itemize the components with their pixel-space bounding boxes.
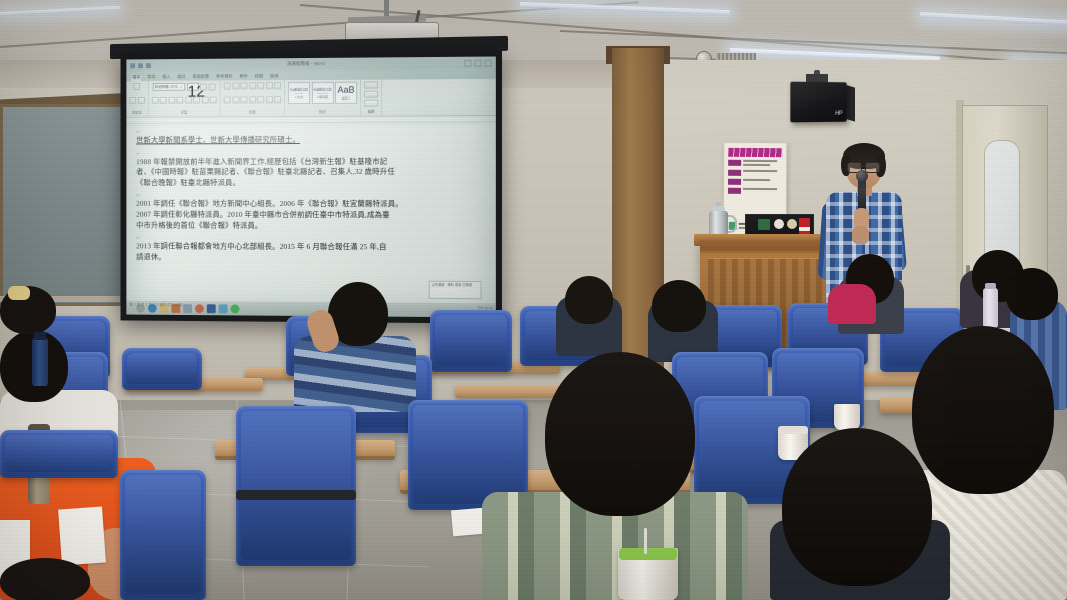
hair-clip — [8, 286, 30, 300]
ribbon-group-paragraph: 段落 — [221, 80, 285, 116]
water-bottle — [32, 338, 48, 386]
water-bottle — [983, 288, 998, 328]
decrease-indent-icon[interactable] — [249, 82, 256, 89]
italic-icon[interactable] — [160, 97, 167, 104]
chrome-browser-icon[interactable] — [195, 304, 204, 313]
document-line: 2007 年調任彰化縣特派員。2010 年臺中縣市合併前調任臺中市特派員,成為臺 — [136, 210, 489, 221]
shading-icon[interactable] — [266, 96, 273, 103]
ribbon-group-editing: 編輯 — [361, 80, 382, 116]
wall-speaker: HP — [790, 82, 846, 123]
drink-cup — [834, 404, 860, 430]
audience-member-head — [545, 352, 695, 516]
drinking-straw — [644, 528, 647, 554]
document-paragraph: 2013 年調任聯合報都會地方中心北部組長。2015 年 6 月聯合報任滿 25… — [136, 242, 489, 265]
volume-tooltip: 正在播放 - 喇叭 音量 已靜音 — [429, 281, 482, 299]
projected-image: 演講稿簡報 - Word 檔案 常用 插入 設計 版面配置 參考資料 郵件 校閱… — [126, 57, 495, 318]
audience-member-torso — [294, 336, 416, 412]
audience-member-head — [565, 276, 613, 324]
audience-member-head — [1006, 268, 1058, 320]
minimize-icon[interactable] — [464, 59, 471, 66]
lecture-hall-photo: HP — [0, 0, 1067, 600]
undo-icon[interactable] — [138, 63, 143, 68]
poster-row — [728, 179, 782, 185]
word-ribbon: 剪貼簿 新細明體 (中文...) 12 — [126, 79, 495, 118]
word-status-bar: 第 1 頁,共 1 頁 171 個字 中文(台灣) — [129, 302, 183, 307]
group-label-paragraph: 段落 — [249, 109, 256, 114]
microphone-head-icon — [856, 170, 868, 182]
group-label-styles: 樣式 — [319, 109, 326, 114]
superscript-icon[interactable] — [193, 97, 200, 104]
poster-row-tag — [728, 179, 741, 185]
paper-handout — [58, 507, 106, 566]
word-document-page[interactable]: ↵ 世新大學新聞系學士、世新大學傳播研究所碩士。 ↵ 1988 年報禁開放前半年… — [126, 125, 495, 303]
font-name-box[interactable]: 新細明體 (中文...) — [153, 83, 185, 91]
presenter-glasses-lens — [865, 162, 880, 173]
laptop-sticker — [787, 219, 797, 229]
document-line: 《聯合晚報》駐臺北縣特派員。 — [136, 178, 489, 189]
word-application-window: 演講稿簡報 - Word 檔案 常用 插入 設計 版面配置 參考資料 郵件 校閱… — [126, 57, 495, 318]
strikethrough-icon[interactable] — [176, 97, 183, 104]
line-spacing-icon[interactable] — [257, 96, 264, 103]
presenter-hand-lower — [852, 226, 869, 244]
subscript-icon[interactable] — [185, 97, 192, 104]
ribbon-group-font: 新細明體 (中文...) 12 — [148, 81, 220, 117]
laptop-sticker — [758, 219, 770, 230]
bottle-cap — [985, 283, 996, 289]
align-right-icon[interactable] — [240, 96, 247, 103]
shrink-font-icon[interactable] — [208, 83, 215, 90]
presenter-glasses-bridge — [860, 165, 865, 167]
document-line: 者、《中國時報》駐苗栗縣記者、《聯合報》駐臺北縣記者、召集人,32 歲時升任 — [136, 167, 489, 178]
seat[interactable] — [120, 470, 206, 600]
align-center-icon[interactable] — [232, 96, 239, 103]
poster-row — [728, 170, 782, 176]
ribbon-group-clipboard: 剪貼簿 — [126, 81, 148, 117]
underline-icon[interactable] — [168, 97, 175, 104]
multilevel-list-icon[interactable] — [240, 82, 247, 89]
style-no-spacing[interactable]: AaBbCcD ↵無間距 — [311, 82, 333, 104]
document-paragraph: 1988 年報禁開放前半年進入新聞界工作,經歷包括《台灣新生報》駐基隆市記 者、… — [136, 156, 489, 188]
seat[interactable] — [236, 406, 356, 566]
document-line: 2013 年調任聯合報都會地方中心北部組長。2015 年 6 月聯合報任滿 25… — [136, 242, 489, 254]
font-color-icon[interactable] — [210, 97, 217, 104]
sort-icon[interactable] — [266, 82, 273, 89]
font-size-box[interactable]: 12 — [187, 83, 199, 91]
bottle-cap — [34, 332, 46, 340]
align-left-icon[interactable] — [224, 96, 231, 103]
audience-member-head — [652, 280, 706, 332]
borders-icon[interactable] — [274, 96, 281, 103]
snipping-tool-icon[interactable] — [183, 304, 192, 313]
justify-icon[interactable] — [249, 96, 256, 103]
seat[interactable] — [122, 348, 202, 390]
grow-font-icon[interactable] — [200, 83, 207, 90]
poster-row — [728, 188, 782, 194]
document-paragraph: 2001 年調任《聯合報》地方新聞中心組長。2006 年《聯合報》駐宜蘭縣特派員… — [136, 199, 489, 231]
replace-icon[interactable] — [364, 91, 378, 98]
audience-member-head — [912, 326, 1054, 494]
save-icon[interactable] — [130, 63, 135, 68]
line-messenger-icon[interactable] — [231, 304, 240, 313]
audience-member-torso — [828, 284, 876, 324]
document-line: 世新大學新聞系學士、世新大學傳播研究所碩士。 — [136, 134, 489, 146]
text-highlight-icon[interactable] — [201, 97, 208, 104]
bullet-list-icon[interactable] — [224, 83, 231, 90]
poster-row-tag — [728, 188, 741, 194]
show-marks-icon[interactable] — [274, 82, 281, 89]
cut-icon[interactable] — [129, 96, 136, 103]
seat[interactable] — [430, 310, 512, 372]
document-line: 1988 年報禁開放前半年進入新聞界工作,經歷包括《台灣新生報》駐基隆市記 — [136, 156, 489, 167]
copy-icon[interactable] — [138, 96, 145, 103]
ribbon-group-styles: AaBbCcD ↵內文 AaBbCcD ↵無間距 AaB 標題 1 — [285, 80, 361, 116]
paste-icon[interactable] — [133, 83, 140, 90]
poster-header-band — [728, 148, 782, 157]
poster-row-tag — [728, 160, 741, 166]
word-document-title: 演講稿簡報 - Word — [154, 60, 461, 68]
find-icon[interactable] — [364, 82, 378, 89]
document-line: 中市升格後的首位《聯合報》特派員。 — [136, 220, 489, 231]
poster-row-tag — [728, 170, 741, 176]
document-paragraph: 世新大學新聞系學士、世新大學傳播研究所碩士。 — [136, 134, 489, 146]
word-icon[interactable] — [207, 304, 216, 313]
document-line: 請退休。 — [136, 252, 489, 264]
tab-review[interactable]: 校閱 — [254, 73, 264, 80]
pdf-reader-icon[interactable] — [219, 304, 228, 313]
drink-cup-lid — [619, 548, 677, 560]
audience-member-head — [0, 558, 90, 600]
drink-cup-lid — [778, 426, 808, 434]
numbered-list-icon[interactable] — [232, 82, 239, 89]
chalkboard — [0, 104, 134, 306]
group-label-font: 字型 — [181, 110, 188, 115]
increase-indent-icon[interactable] — [257, 82, 264, 89]
group-label-editing: 編輯 — [368, 109, 375, 114]
select-icon[interactable] — [364, 100, 378, 107]
redo-icon[interactable] — [146, 63, 151, 68]
bold-icon[interactable] — [151, 97, 158, 104]
document-line: 2001 年調任《聯合報》地方新聞中心組長。2006 年《聯合報》駐宜蘭縣特派員… — [136, 199, 489, 210]
close-icon[interactable] — [485, 59, 492, 66]
style-normal[interactable]: AaBbCcD ↵內文 — [288, 82, 310, 104]
projection-screen: 演講稿簡報 - Word 檔案 常用 插入 設計 版面配置 參考資料 郵件 校閱… — [121, 50, 502, 323]
group-label-clipboard: 剪貼簿 — [132, 110, 142, 115]
tab-home[interactable]: 常用 — [146, 74, 156, 81]
speaker-brand-label: HP — [835, 111, 842, 117]
word-ruler[interactable] — [126, 116, 495, 124]
poster-row — [728, 160, 782, 167]
maximize-icon[interactable] — [474, 59, 481, 66]
seat-arm — [236, 490, 356, 500]
style-heading-1[interactable]: AaB 標題 1 — [335, 82, 357, 104]
audience-member-head — [782, 428, 932, 586]
seat[interactable] — [0, 430, 118, 478]
laptop-sticker — [774, 219, 784, 229]
laptop-sticker — [799, 227, 810, 231]
